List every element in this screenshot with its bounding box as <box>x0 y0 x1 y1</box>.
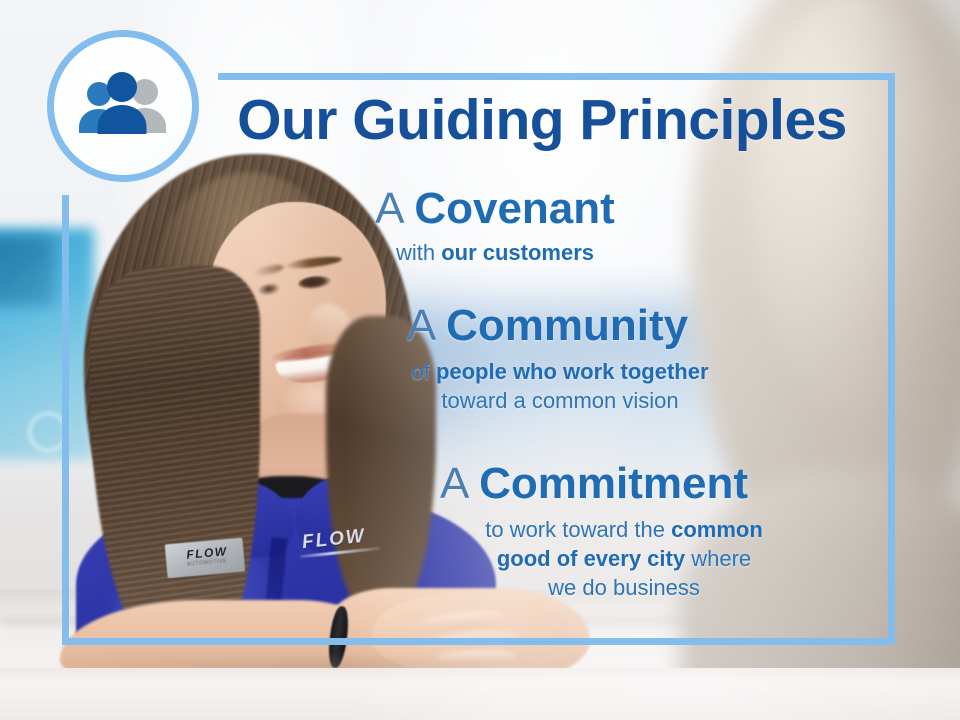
sub-text-bold: good of every city <box>497 546 685 571</box>
sub-text-bold: common <box>671 517 763 542</box>
sub-line: we do business <box>288 573 960 602</box>
people-group-icon <box>47 30 199 182</box>
sub-line: to work toward the common <box>288 515 960 544</box>
article-word: A <box>375 184 414 233</box>
principle-community-heading: A Community <box>0 303 960 349</box>
sub-line: good of every city where <box>288 544 960 573</box>
sub-line: of people who work together <box>160 357 960 386</box>
sub-text-plain: where <box>685 546 751 571</box>
principle-covenant: A Covenant with our customers <box>0 186 960 267</box>
principle-commitment-sub: to work toward the common good of every … <box>0 515 960 602</box>
principle-covenant-heading: A Covenant <box>0 186 960 232</box>
page-title: Our Guiding Principles <box>212 92 872 149</box>
sub-text-plain: of <box>411 359 435 384</box>
principle-community: A Community of people who work together … <box>0 303 960 415</box>
principle-covenant-sub: with our customers <box>0 238 960 267</box>
sub-text-plain: with <box>396 240 441 265</box>
principle-commitment: A Commitment to work toward the common g… <box>0 461 960 602</box>
article-word: A <box>407 301 446 350</box>
principle-keyword: Commitment <box>479 459 748 508</box>
principle-community-sub: of people who work together toward a com… <box>0 357 960 415</box>
guiding-principles-graphic: FLOW AUTOMOTIVE FLOW <box>0 0 960 720</box>
sub-line: toward a common vision <box>160 386 960 415</box>
sub-text-bold: our customers <box>441 240 594 265</box>
principle-keyword: Covenant <box>414 184 614 233</box>
sub-text-bold: people who work together <box>436 359 709 384</box>
table-top-surface <box>0 668 960 720</box>
article-word: A <box>440 459 479 508</box>
sub-text-plain: to work toward the <box>485 517 671 542</box>
principle-keyword: Community <box>446 301 688 350</box>
principle-commitment-heading: A Commitment <box>0 461 960 507</box>
